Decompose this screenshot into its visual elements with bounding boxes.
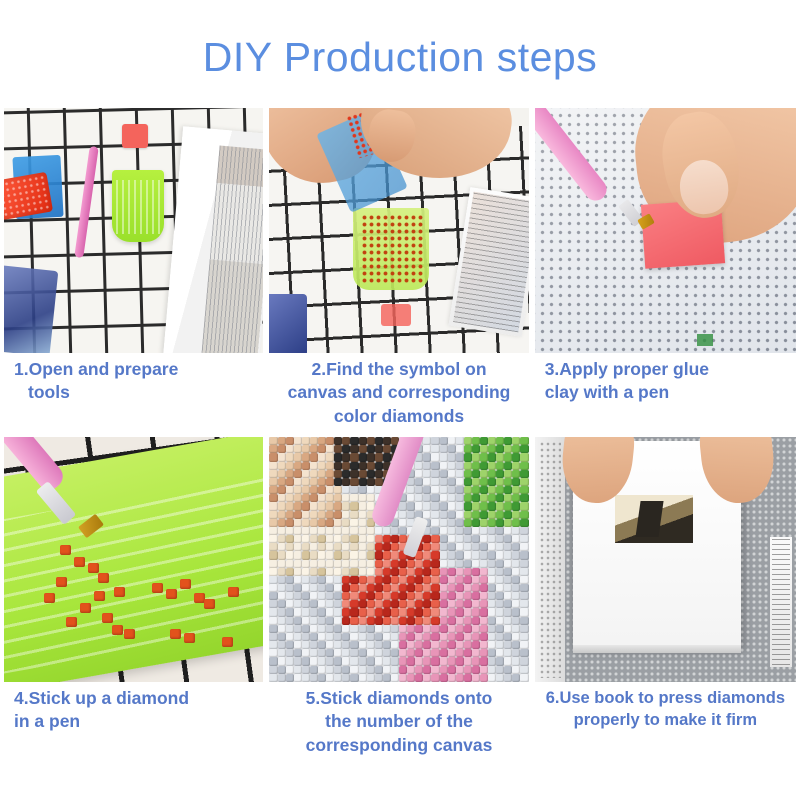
caption-cell-1: 1.Open and prepare tools [4, 353, 263, 437]
caption-cell-2: 2.Find the symbol on canvas and correspo… [269, 353, 528, 437]
caption-line: properly to make it firm [537, 709, 794, 731]
step-caption-4: 4.Stick up a diamond in a pen [4, 682, 263, 734]
orange-diamond [152, 583, 163, 593]
step-photo-3 [535, 108, 796, 353]
orange-diamond [102, 613, 113, 623]
symbol-legend-strip [770, 537, 792, 667]
photo-place-diamonds [269, 437, 528, 682]
caption-line: 1.Open and prepare [14, 358, 263, 381]
orange-diamond [184, 633, 195, 643]
orange-diamond [88, 563, 99, 573]
captions-row-top: 1.Open and prepare tools 2.Find the symb… [4, 353, 796, 437]
orange-diamond [94, 591, 105, 601]
captions-row-bottom: 4.Stick up a diamond in a pen 5.Stick di… [4, 682, 796, 772]
caption-line: 4.Stick up a diamond [14, 687, 263, 710]
caption-line: in a pen [14, 710, 263, 733]
glue-clay-square [122, 124, 148, 148]
orange-diamond [204, 599, 215, 609]
step-caption-2: 2.Find the symbol on canvas and correspo… [269, 353, 528, 428]
orange-diamond [166, 589, 177, 599]
caption-line: color diamonds [271, 405, 526, 428]
orange-diamond [112, 625, 123, 635]
orange-diamond [124, 629, 135, 639]
caption-cell-4: 4.Stick up a diamond in a pen [4, 682, 263, 772]
orange-diamond [180, 579, 191, 589]
photo-pick-diamond [4, 437, 263, 682]
steps-grid: 1.Open and prepare tools 2.Find the symb… [4, 108, 796, 772]
steps-row-bottom [4, 437, 796, 682]
step-caption-6: 6.Use book to press diamonds properly to… [535, 682, 796, 731]
step-caption-5: 5.Stick diamonds onto the number of the … [269, 682, 528, 757]
orange-diamond [74, 557, 85, 567]
green-symbol-mark [697, 334, 713, 346]
steps-row-top [4, 108, 796, 353]
glue-clay-square [381, 304, 411, 326]
orange-diamond [114, 587, 125, 597]
step-caption-3: 3.Apply proper glue clay with a pen [535, 353, 796, 405]
book-cover-photo [615, 495, 693, 543]
navy-diamond-bag [269, 294, 307, 353]
step-photo-6 [535, 437, 796, 682]
orange-diamond [222, 637, 233, 647]
navy-diamond-bag [4, 265, 58, 353]
caption-line: 3.Apply proper glue [545, 358, 796, 381]
step-photo-1 [4, 108, 263, 353]
caption-line: the number of the [271, 710, 526, 733]
photo-tools-layout [4, 108, 263, 353]
orange-diamond [80, 603, 91, 613]
caption-line: corresponding canvas [271, 734, 526, 757]
orange-diamond [170, 629, 181, 639]
caption-cell-3: 3.Apply proper glue clay with a pen [535, 353, 796, 437]
step-photo-2 [269, 108, 528, 353]
orange-diamond [44, 593, 55, 603]
orange-diamond [66, 617, 77, 627]
orange-diamond [98, 573, 109, 583]
orange-diamond [228, 587, 239, 597]
step-caption-1: 1.Open and prepare tools [4, 353, 263, 405]
caption-cell-6: 6.Use book to press diamonds properly to… [535, 682, 796, 772]
photo-pour-diamonds [269, 108, 528, 353]
step-photo-4 [4, 437, 263, 682]
caption-cell-5: 5.Stick diamonds onto the number of the … [269, 682, 528, 772]
caption-line: 5.Stick diamonds onto [271, 687, 526, 710]
photo-apply-glue-clay [535, 108, 796, 353]
orange-diamond [60, 545, 71, 555]
green-diamond-tray [112, 170, 164, 242]
step-photo-5 [269, 437, 528, 682]
canvas-edge [535, 437, 565, 682]
photo-press-with-book [535, 437, 796, 682]
caption-line: canvas and corresponding [271, 381, 526, 404]
diy-steps-infographic: DIY Production steps [0, 0, 800, 800]
caption-line: clay with a pen [545, 381, 796, 404]
caption-line: 2.Find the symbol on [271, 358, 526, 381]
caption-line: tools [14, 381, 263, 404]
page-title: DIY Production steps [0, 34, 800, 81]
caption-line: 6.Use book to press diamonds [537, 687, 794, 709]
orange-diamonds-on-tray [361, 214, 423, 284]
orange-diamond [56, 577, 67, 587]
